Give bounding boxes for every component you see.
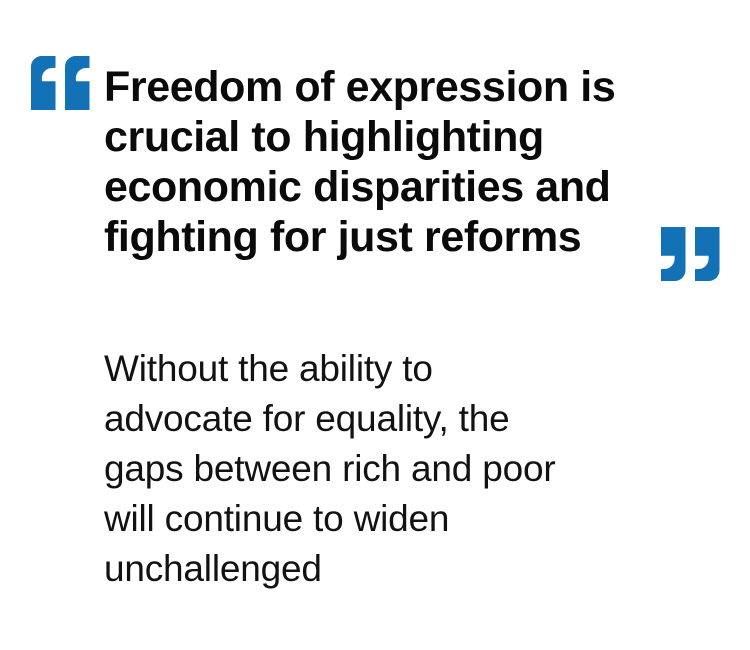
pullquote-headline: Freedom of expression is crucial to high… bbox=[104, 62, 684, 262]
pullquote-card: Freedom of expression is crucial to high… bbox=[0, 0, 750, 650]
pullquote-body: Without the ability to advocate for equa… bbox=[104, 344, 684, 594]
quote-close-icon bbox=[661, 227, 720, 281]
quote-open-icon bbox=[31, 56, 90, 110]
